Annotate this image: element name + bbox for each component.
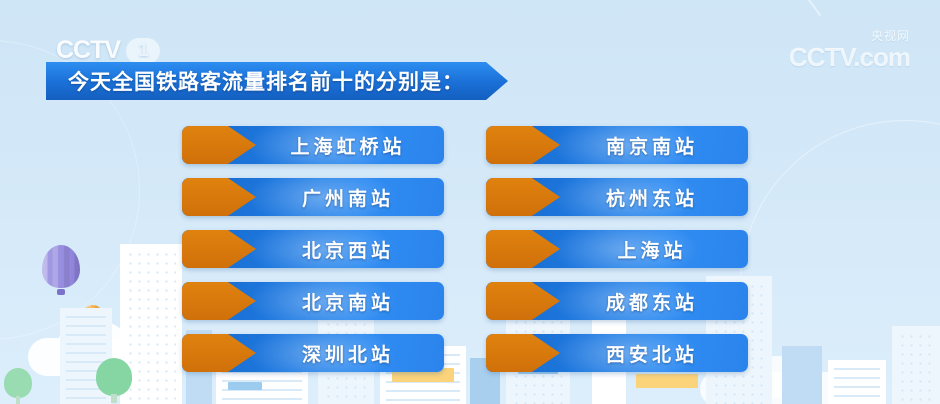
broadcast-graphic-stage: CCTV 1 央视网 CCTV.com 今天全国铁路客流量排名前十的分别是： 上… [0,0,940,404]
station-ranking-list: 上海虹桥站广州南站北京西站北京南站深圳北站南京南站杭州东站上海站成都东站西安北站 [182,126,782,372]
station-name-label: 北京西站 [256,236,444,263]
rank-arrow-icon [182,126,256,164]
station-name-label: 成都东站 [560,288,748,315]
rank-arrow-icon [182,230,256,268]
station-rank-item[interactable]: 南京南站 [486,126,748,164]
cctv-site-label: CCTV.com [789,42,910,72]
cctv-logo-text: CCTV [56,36,120,65]
station-name-label: 北京南站 [256,288,444,315]
station-name-label: 杭州东站 [560,184,748,211]
station-name-label: 上海站 [560,236,748,263]
building-tower-left [120,244,182,404]
rank-arrow-icon [486,126,560,164]
station-rank-item[interactable]: 上海站 [486,230,748,268]
page-title: 今天全国铁路客流量排名前十的分别是： [68,66,464,96]
title-banner: 今天全国铁路客流量排名前十的分别是： [46,62,508,100]
station-name-label: 深圳北站 [256,340,444,367]
building-block-right-b [782,346,822,404]
rank-arrow-icon [486,334,560,372]
cctv-channel-number-badge: 1 [126,38,160,64]
station-rank-item[interactable]: 杭州东站 [486,178,748,216]
station-rank-item[interactable]: 上海虹桥站 [182,126,444,164]
title-banner-shape: 今天全国铁路客流量排名前十的分别是： [46,62,508,100]
station-name-label: 西安北站 [560,340,748,367]
cctv-channel-watermark: CCTV 1 [56,36,160,65]
station-name-label: 广州南站 [256,184,444,211]
station-name-label: 南京南站 [560,132,748,159]
station-rank-item[interactable]: 广州南站 [182,178,444,216]
cloud-left [28,338,146,376]
cctv-site-cn-label: 央视网 [871,27,910,44]
cloud-left-puff [58,320,128,366]
hot-air-balloon-purple-icon [42,245,80,301]
building-block-right-c [828,360,886,404]
cctv-site-watermark: 央视网 CCTV.com [789,42,910,73]
station-rank-item[interactable]: 北京西站 [182,230,444,268]
station-rank-item[interactable]: 深圳北站 [182,334,444,372]
rank-arrow-icon [182,334,256,372]
tree-left-icon [96,358,132,404]
cloud-right [700,372,850,404]
station-rank-item[interactable]: 西安北站 [486,334,748,372]
rank-arrow-icon [182,282,256,320]
rank-arrow-icon [486,282,560,320]
window-accent-b [228,382,262,390]
station-rank-item[interactable]: 成都东站 [486,282,748,320]
rank-arrow-icon [486,230,560,268]
tree-edge-icon [4,368,32,404]
building-block-left-a [60,308,112,404]
rank-arrow-icon [486,178,560,216]
building-block-far-right [892,326,940,404]
window-accent-f [636,374,698,388]
station-rank-item[interactable]: 北京南站 [182,282,444,320]
hot-air-balloon-orange-icon [80,305,106,345]
rank-arrow-icon [182,178,256,216]
station-name-label: 上海虹桥站 [256,132,444,159]
